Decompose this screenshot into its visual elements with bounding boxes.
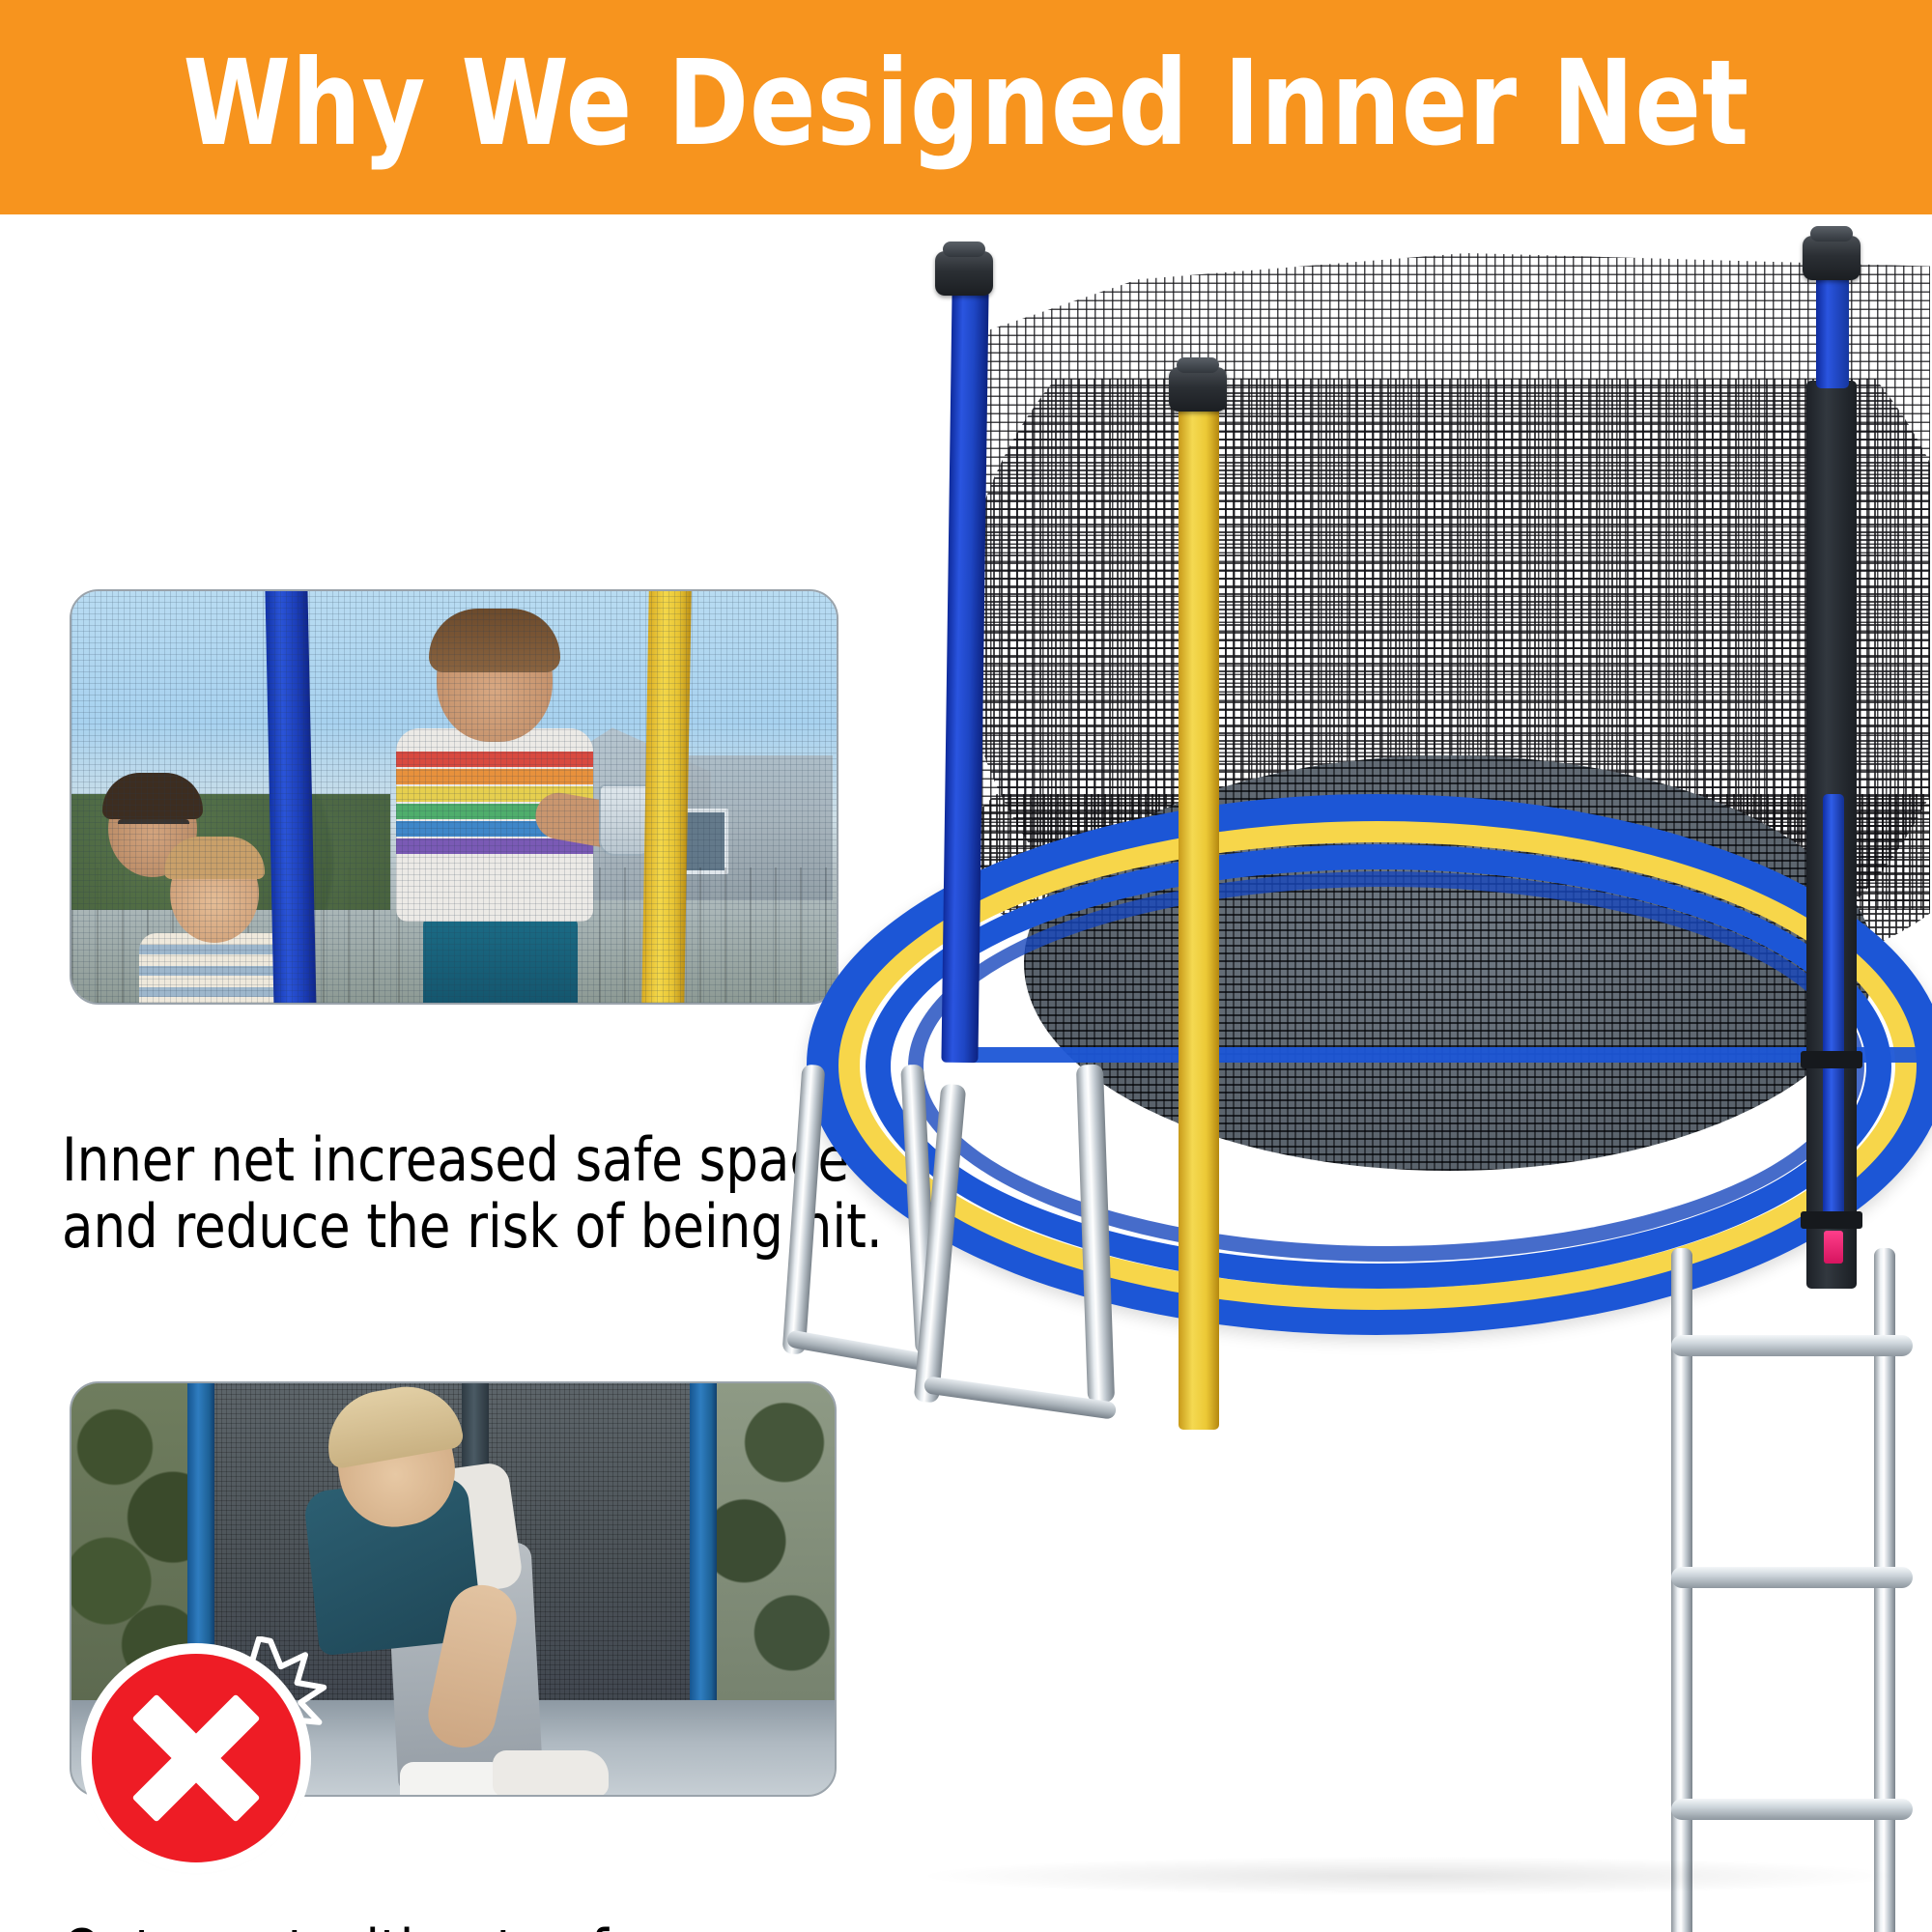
net-strap-lower (1801, 1211, 1862, 1229)
prohibited-x-badge (92, 1654, 300, 1862)
product-render-trampoline (898, 214, 1932, 1932)
enclosure-pole-right-blue-top (1816, 274, 1849, 388)
ladder-rung (1671, 1567, 1913, 1588)
photo-inner-net-good (70, 589, 838, 1005)
pole-cap-yellow-icon (1169, 367, 1227, 412)
header-banner: Why We Designed Inner Net (0, 0, 1932, 214)
net-strap-upper (1801, 1051, 1862, 1068)
access-ladder (1633, 1248, 1932, 1932)
photo2-child-shoe-right (493, 1750, 609, 1797)
comparison-column: Inner net increased safe space and reduc… (0, 214, 927, 1932)
frame-pad-inner-rim (908, 871, 1864, 1262)
marketing-infographic: Why We Designed Inner Net (0, 0, 1932, 1932)
photo2-trees-right (709, 1383, 835, 1712)
ladder-rung (1671, 1799, 1913, 1820)
photo2-pole-right (690, 1383, 717, 1737)
enclosure-pole-yellow (1179, 406, 1219, 1430)
photo1-net-mesh-overlay (71, 591, 837, 1003)
pole-cap-left-icon (935, 251, 993, 296)
caption-good: Inner net increased safe space and reduc… (62, 1126, 888, 1261)
caption-bad: Outer net without safe space may cause s… (62, 1918, 888, 1932)
enclosure-pole-right-blue-mid (1823, 794, 1844, 1229)
page-title: Why We Designed Inner Net (183, 44, 1749, 170)
ladder-rung (1671, 1335, 1913, 1356)
net-blue-band (962, 1047, 1930, 1063)
ground-shadow (927, 1857, 1893, 1895)
pole-cap-right-icon (1803, 236, 1861, 280)
